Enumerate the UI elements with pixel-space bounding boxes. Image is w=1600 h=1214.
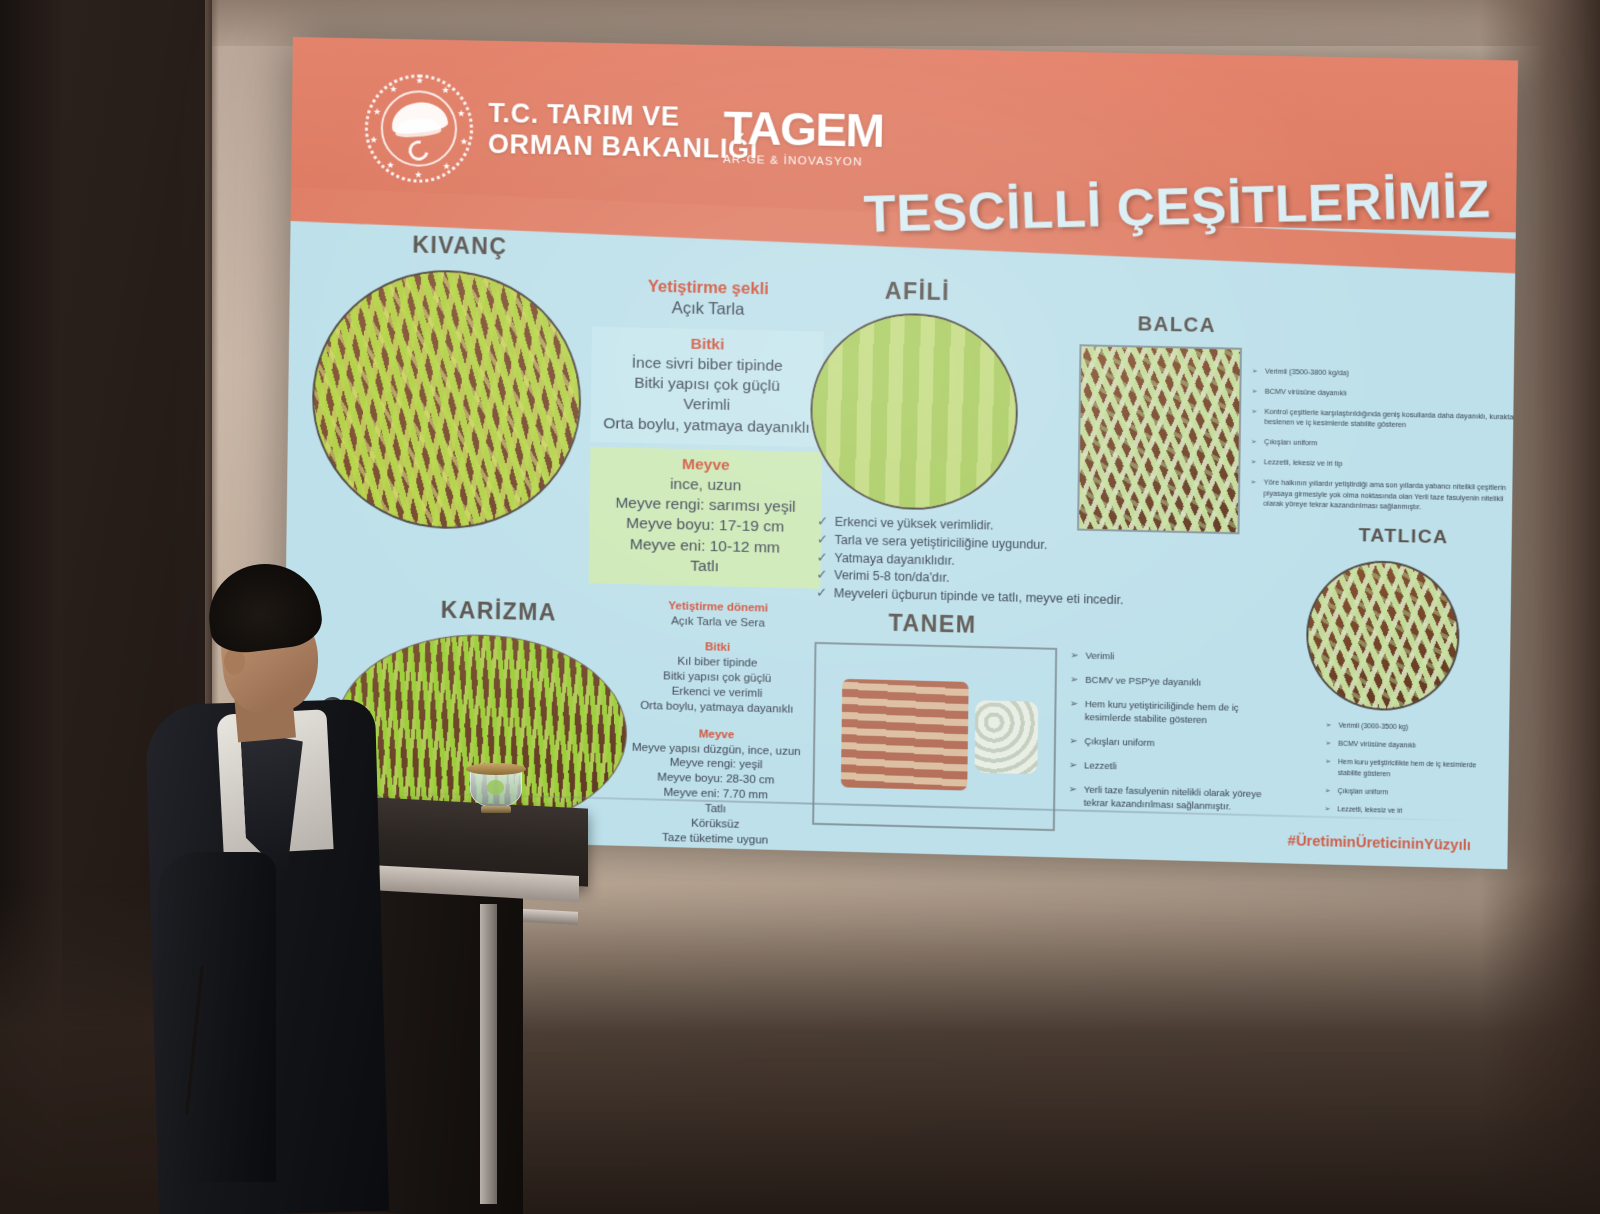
arrow-icon: ➢ [1252,366,1258,377]
balca-photo [1077,344,1242,534]
check-icon: ✓ [816,585,827,603]
kivanc-info-fruit: Meyve ince, uzun Meyve rengi: sarımsı ye… [589,447,822,589]
speaker-arm [158,852,276,1182]
tanem-bullet-3: ➢Çıkışları uniform [1069,735,1288,754]
karizma-info: Yetiştirme dönemi Açık Tarla ve Sera Bit… [601,598,832,851]
balca-bullet-list: ➢Verimli (3500-3800 kg/da) ➢BCMV virüsün… [1250,366,1518,516]
glass-trophy-rim [466,763,526,775]
kivanc-info-plant: Bitki İnce sivri biber tipinde Bitki yap… [590,327,823,447]
balca-bullet-5: ➢Yöre halkının yıllardır yetiştirdiği am… [1250,477,1518,516]
check-icon: ✓ [817,531,828,549]
variety-title-tatlica: TATLICA [1358,525,1448,549]
arrow-icon: ➢ [1070,697,1078,711]
arrow-icon: ➢ [1070,673,1078,687]
conference-room-scene: ★ ★ ★ ★ ★ ★ ★ ★ ★ ★ T.C. TARIM VE ORMAN … [0,0,1600,1214]
check-icon: ✓ [816,567,827,585]
arrow-icon: ➢ [1325,739,1331,749]
tatlica-bullet-0: ➢Verimli (3000-3500 kg) [1325,721,1499,736]
tagem-logo-subtitle: AR-GE & İNOVASYON [723,153,883,168]
tatlica-bullet-2: ➢Hem kuru yetiştiricilikte hem de iç kes… [1325,758,1499,783]
balca-bullet-0: ➢Verimli (3500-3800 kg/da) [1252,366,1518,383]
glass-trophy-base [481,806,511,813]
arrow-icon: ➢ [1069,759,1077,773]
tanem-bullet-4: ➢Lezzetli [1069,759,1288,778]
slide-hashtag: #ÜretiminÜreticininYüzyılı [1288,833,1471,854]
tatlica-bullet-1: ➢BCMV virüsüne dayanıklı [1325,739,1499,754]
check-icon: ✓ [817,513,828,531]
variety-title-balca: BALCA [1137,313,1216,338]
kivanc-growing-line-0: Açık Tarla [592,297,824,324]
balca-bullet-2: ➢Kontrol çeşitlerle karşılaştırıldığında… [1251,406,1518,434]
arrow-icon: ➢ [1069,735,1077,749]
kivanc-info-growing: Yetiştirme şekli Açık Tarla [592,275,824,323]
arrow-icon: ➢ [1251,437,1257,448]
slide-header: ★ ★ ★ ★ ★ ★ ★ ★ ★ ★ T.C. TARIM VE ORMAN … [291,37,1518,232]
arrow-icon: ➢ [1068,783,1076,797]
arrow-icon: ➢ [1251,386,1257,397]
variety-title-karizma: KARİZMA [441,597,558,627]
glass-trophy-emblem [487,780,504,795]
arrow-icon: ➢ [1325,786,1331,796]
check-icon: ✓ [817,549,828,567]
tanem-bullet-list: ➢Verimli ➢BCMV ve PSP'ye dayanıklı ➢Hem … [1068,649,1289,816]
speaker-hair [203,557,325,656]
balca-bullet-3: ➢Çıkışları uniform [1251,437,1518,454]
tanem-bullet-2: ➢Hem kuru yetiştiriciliğinde hem de iç k… [1069,697,1288,730]
kivanc-photo [311,267,583,531]
variety-title-kivanc: KIVANÇ [412,232,507,261]
tatlica-bullet-3: ➢Çıkışları uniform [1325,786,1499,801]
turkish-ministry-emblem-icon: ★ ★ ★ ★ ★ ★ ★ ★ ★ ★ [364,73,474,183]
balca-bullet-1: ➢BCMV virüsüne dayanıklı [1251,386,1518,403]
tagem-logo: TAGEM AR-GE & İNOVASYON [723,106,884,169]
ministry-name: T.C. TARIM VE ORMAN BAKANLIĞI [488,98,759,166]
arrow-icon: ➢ [1325,758,1331,768]
balca-bullet-4: ➢Lezzetli, lekesiz ve iri tip [1251,457,1518,474]
tagem-logo-text: TAGEM [723,106,884,154]
ministry-name-line2: ORMAN BAKANLIĞI [488,129,758,166]
tanem-bullet-1: ➢BCMV ve PSP'ye dayanıklı [1070,673,1289,692]
tanem-bullet-0: ➢Verimli [1070,649,1289,668]
arrow-icon: ➢ [1324,805,1330,815]
speaker-person [140,552,440,1214]
projection-screen: ★ ★ ★ ★ ★ ★ ★ ★ ★ ★ T.C. TARIM VE ORMAN … [283,37,1519,869]
variety-title-afili: AFİLİ [885,278,951,307]
arrow-icon: ➢ [1325,721,1331,731]
arrow-icon: ➢ [1251,406,1257,417]
arrow-icon: ➢ [1251,457,1257,468]
kivanc-fruit-line-4: Tatlı [593,554,817,580]
kivanc-plant-line-3: Orta boylu, yatmaya dayanıklı [595,413,819,438]
arrow-icon: ➢ [1070,649,1078,663]
podium-leg-right [480,904,497,1204]
tatlica-bullet-list: ➢Verimli (3000-3500 kg) ➢BCMV virüsüne d… [1324,721,1499,820]
tatlica-photo [1305,559,1460,712]
afili-photo [809,311,1019,512]
arrow-icon: ➢ [1250,477,1256,488]
variety-title-tanem: TANEM [888,610,976,639]
